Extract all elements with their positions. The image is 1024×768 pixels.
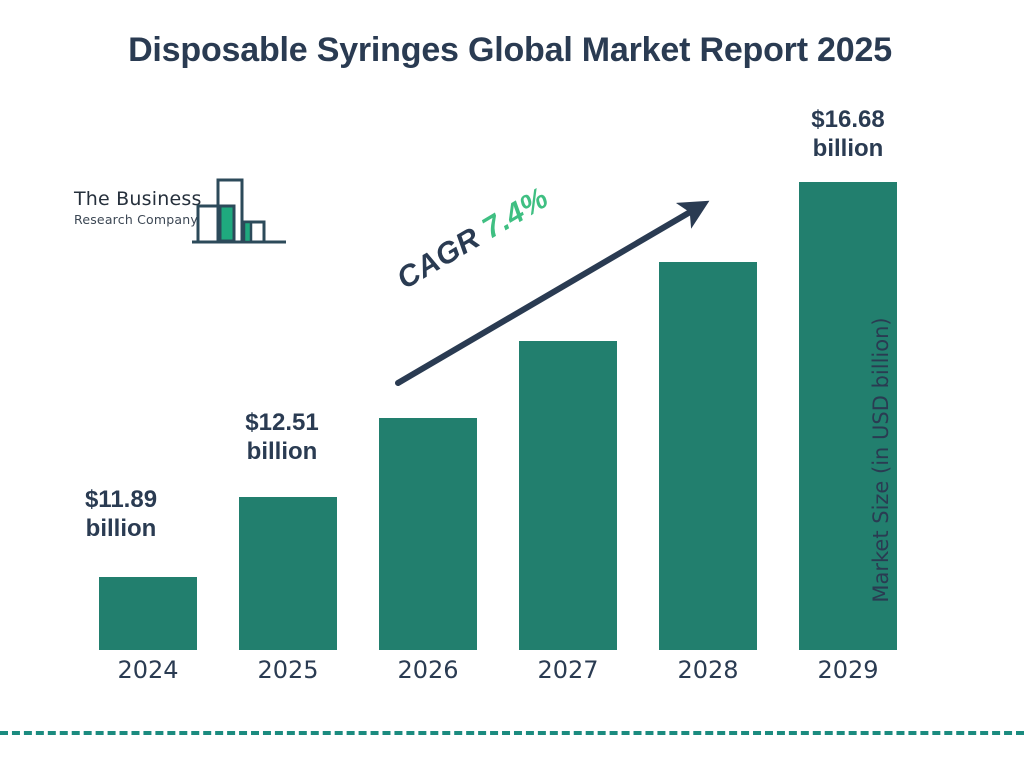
bar-chart: $11.89 billion $12.51 billion $16.68 bil… xyxy=(0,0,1024,768)
y-axis-title: Market Size (in USD billion) xyxy=(869,300,893,620)
footer-divider xyxy=(0,731,1024,735)
